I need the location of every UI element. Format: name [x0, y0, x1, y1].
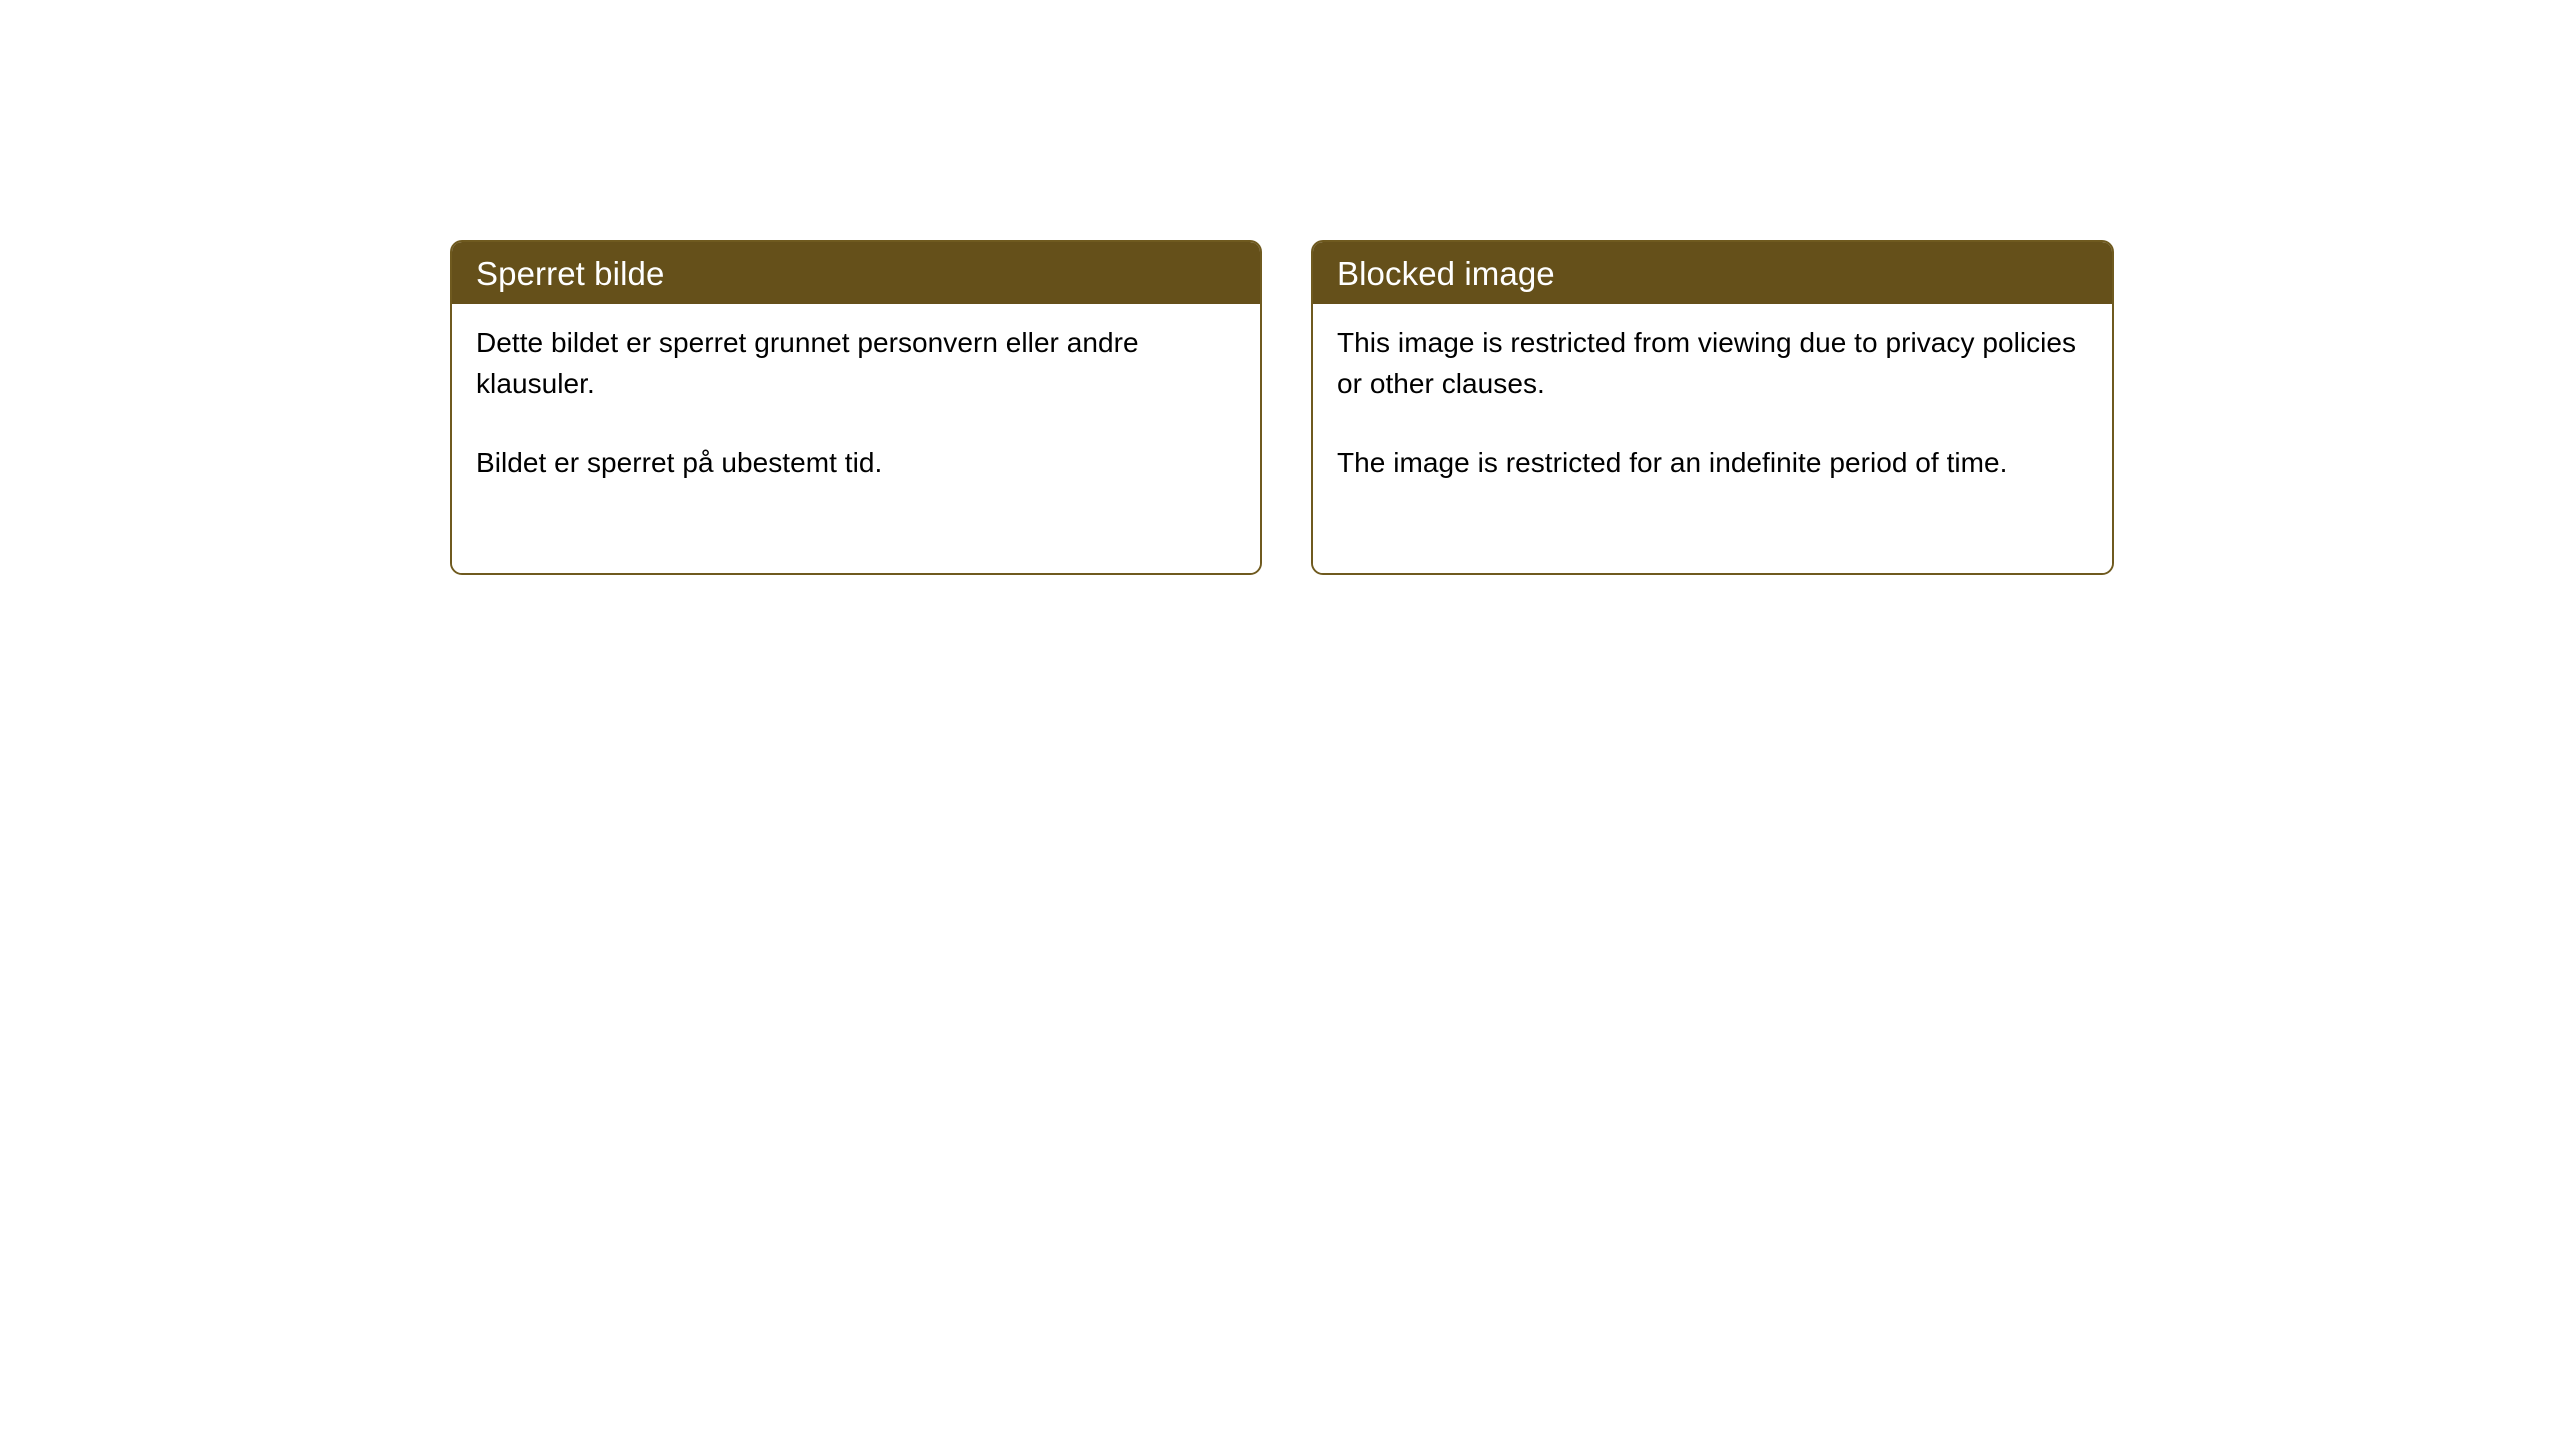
page-root: Sperret bilde Dette bildet er sperret gr… — [0, 0, 2560, 1440]
card-paragraph-primary-english: This image is restricted from viewing du… — [1337, 322, 2090, 404]
blocked-image-card-english: Blocked image This image is restricted f… — [1311, 240, 2114, 575]
card-body-english: This image is restricted from viewing du… — [1313, 304, 2112, 573]
card-title-norwegian: Sperret bilde — [476, 257, 664, 290]
card-header-english: Blocked image — [1313, 242, 2112, 304]
card-title-english: Blocked image — [1337, 257, 1555, 290]
card-paragraph-secondary-english: The image is restricted for an indefinit… — [1337, 442, 2090, 483]
card-paragraph-primary-norwegian: Dette bildet er sperret grunnet personve… — [476, 322, 1238, 404]
blocked-image-card-norwegian: Sperret bilde Dette bildet er sperret gr… — [450, 240, 1262, 575]
card-header-norwegian: Sperret bilde — [452, 242, 1260, 304]
card-body-norwegian: Dette bildet er sperret grunnet personve… — [452, 304, 1260, 573]
card-paragraph-secondary-norwegian: Bildet er sperret på ubestemt tid. — [476, 442, 1238, 483]
notice-card-group: Sperret bilde Dette bildet er sperret gr… — [0, 0, 2560, 1440]
